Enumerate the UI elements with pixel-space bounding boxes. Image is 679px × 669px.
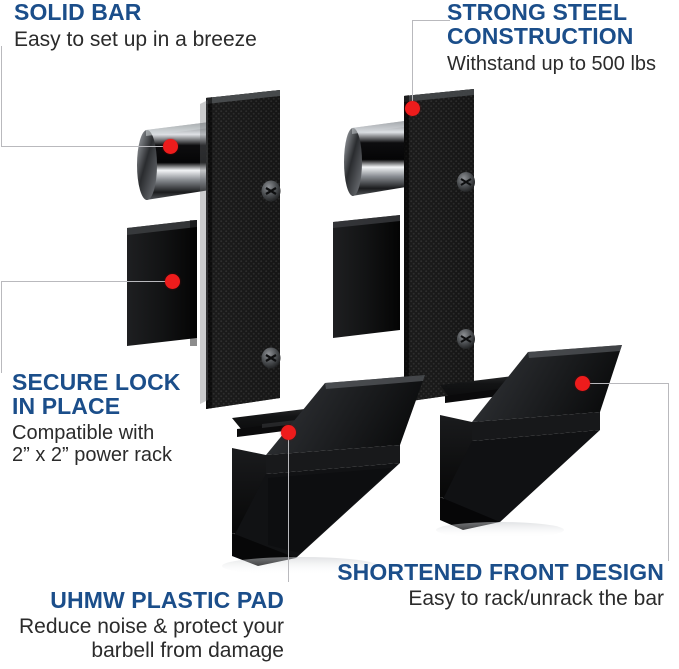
- red-dot-icon-shortened-front: [575, 376, 590, 391]
- red-dot-icon-solid-bar: [163, 139, 178, 154]
- leader-line-shortened-horizontal: [582, 383, 668, 384]
- leader-line-strong-steel-horizontal: [412, 20, 450, 21]
- callout-uhmw-pad-title: UHMW PLASTIC PAD: [0, 588, 284, 612]
- callout-secure-lock-title: SECURE LOCK IN PLACE: [12, 370, 181, 419]
- callout-secure-lock: SECURE LOCK IN PLACE Compatible with 2” …: [12, 370, 181, 467]
- leader-line-secure-lock-vertical: [1, 281, 2, 373]
- screw-right-lower: [457, 329, 475, 349]
- callout-strong-steel-subtitle: Withstand up to 500 lbs: [447, 53, 679, 75]
- callout-shortened-front: SHORTENED FRONT DESIGN Easy to rack/unra…: [330, 560, 664, 611]
- leader-line-strong-steel-vertical: [412, 20, 413, 108]
- callout-strong-steel-title: STRONG STEEL CONSTRUCTION: [447, 0, 679, 49]
- leader-line-solid-bar-horizontal: [1, 146, 170, 147]
- callout-uhmw-pad-subtitle: Reduce noise & protect your barbell from…: [0, 615, 284, 662]
- callout-uhmw-pad: UHMW PLASTIC PAD Reduce noise & protect …: [0, 588, 284, 662]
- leader-line-shortened-vertical: [668, 383, 669, 561]
- red-dot-icon-uhmw-pad: [281, 425, 296, 440]
- screw-left-upper: [262, 181, 281, 202]
- callout-solid-bar-subtitle: Easy to set up in a breeze: [14, 28, 257, 52]
- chrome-bar-right: [344, 120, 412, 196]
- red-dot-icon-strong-steel: [405, 101, 420, 116]
- screw-right-upper: [457, 172, 475, 192]
- callout-solid-bar: SOLID BAR Easy to set up in a breeze: [14, 0, 257, 52]
- callout-shortened-front-subtitle: Easy to rack/unrack the bar: [330, 587, 664, 611]
- callout-secure-lock-subtitle: Compatible with 2” x 2” power rack: [12, 422, 181, 467]
- callout-solid-bar-title: SOLID BAR: [14, 0, 257, 24]
- callout-shortened-front-title: SHORTENED FRONT DESIGN: [330, 560, 664, 584]
- callout-strong-steel: STRONG STEEL CONSTRUCTION Withstand up t…: [447, 0, 679, 75]
- screw-left-lower: [262, 348, 281, 369]
- leader-line-uhmw-vertical: [288, 432, 289, 582]
- leader-line-solid-bar-vertical: [1, 46, 2, 146]
- red-dot-icon-secure-lock: [165, 274, 180, 289]
- leader-line-secure-lock-horizontal: [1, 281, 172, 282]
- product-feature-infographic: SOLID BAR Easy to set up in a breeze STR…: [0, 0, 679, 669]
- chrome-bar-left: [137, 122, 210, 200]
